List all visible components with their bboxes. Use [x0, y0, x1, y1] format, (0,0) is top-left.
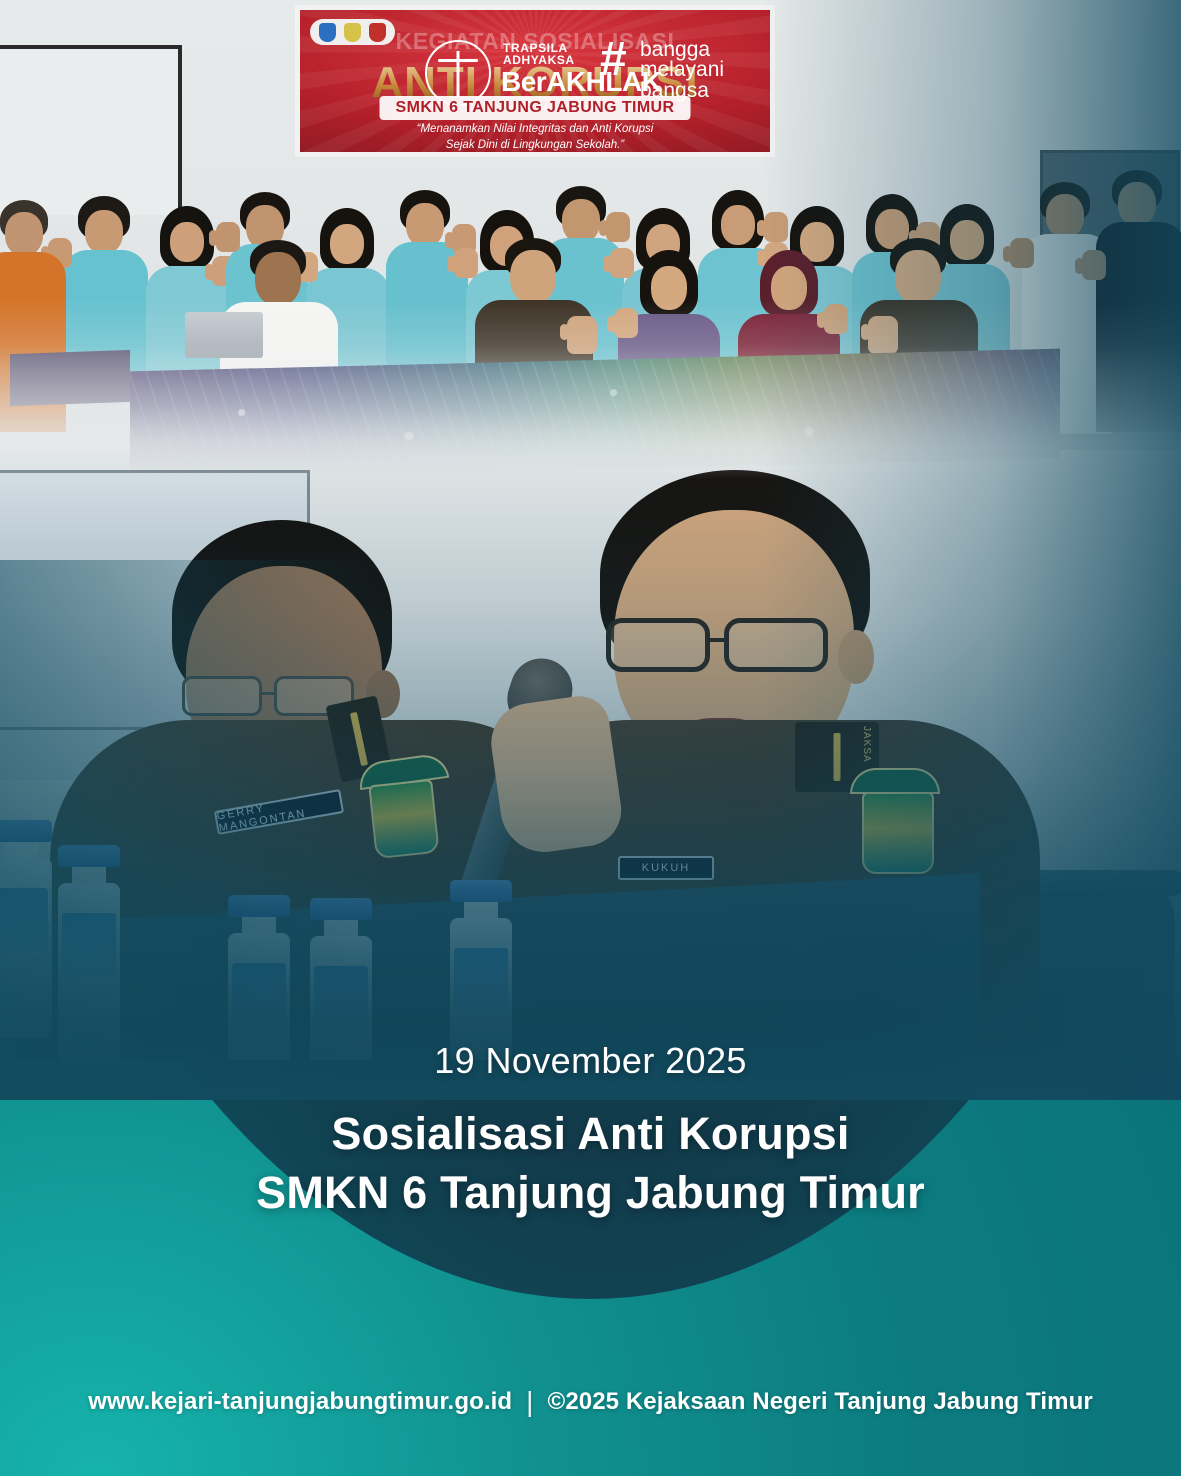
banner-school-name: SMKN 6 TANJUNG JABUNG TIMUR	[380, 96, 691, 120]
group-photo-participants: KEGIATAN SOSIALISASI ANTI KORUPSI TRAPSI…	[0, 0, 1181, 480]
banner-trapsila: TRAPSILA ADHYAKSA	[503, 42, 575, 66]
quote-line1: “Menanamkan Nilai Integritas dan Anti Ko…	[417, 123, 654, 135]
water-bottle	[310, 898, 372, 1060]
banner-berakhlak: BerAKHLAK	[501, 66, 661, 98]
banner-logos	[310, 19, 395, 45]
water-bottle	[0, 820, 52, 1038]
batik-covered-table	[130, 349, 1060, 480]
event-banner: KEGIATAN SOSIALISASI ANTI KORUPSI TRAPSI…	[295, 5, 775, 157]
footer-separator: |	[526, 1386, 533, 1418]
quote-line2: Sejak Dini di Lingkungan Sekolah.”	[446, 139, 624, 151]
banner-quote: “Menanamkan Nilai Integritas dan Anti Ko…	[319, 122, 751, 152]
event-date: 19 November 2025	[0, 1040, 1181, 1082]
water-bottle	[58, 845, 120, 1060]
poster-root: GERRY MANGONTAN JAKSA KUK	[0, 0, 1181, 1476]
kejaksaan-emblem-right	[862, 792, 934, 874]
page-title: Sosialisasi Anti Korupsi SMKN 6 Tanjung …	[0, 1104, 1181, 1223]
footer: www.kejari-tanjungjabungtimur.go.id | ©2…	[0, 1386, 1181, 1418]
kejaksaan-ri-arc-right	[850, 768, 940, 794]
water-bottle	[450, 880, 512, 1060]
projector-screen	[0, 45, 182, 215]
rank-label-right: JAKSA	[861, 726, 872, 763]
eyeglasses-icon	[606, 618, 858, 676]
banner-tagline: bangga melayani bangsa	[640, 40, 724, 101]
title-line-1: Sosialisasi Anti Korupsi	[0, 1104, 1181, 1163]
laptop	[185, 312, 263, 358]
photo-collage: GERRY MANGONTAN JAKSA KUK	[0, 0, 1181, 1100]
footer-website[interactable]: www.kejari-tanjungjabungtimur.go.id	[88, 1388, 512, 1416]
footer-copyright: ©2025 Kejaksaan Negeri Tanjung Jabung Ti…	[548, 1388, 1093, 1416]
kejaksaan-emblem-left	[368, 779, 439, 859]
poster-text-block: 19 November 2025 Sosialisasi Anti Korups…	[0, 1040, 1181, 1223]
side-table	[10, 350, 130, 406]
water-bottle	[228, 895, 290, 1060]
nametag-right: KUKUH	[618, 856, 714, 880]
hashtag-icon: #	[600, 36, 627, 84]
trapsila-line2: ADHYAKSA	[503, 53, 575, 67]
title-line-2: SMKN 6 Tanjung Jabung Timur	[0, 1163, 1181, 1222]
